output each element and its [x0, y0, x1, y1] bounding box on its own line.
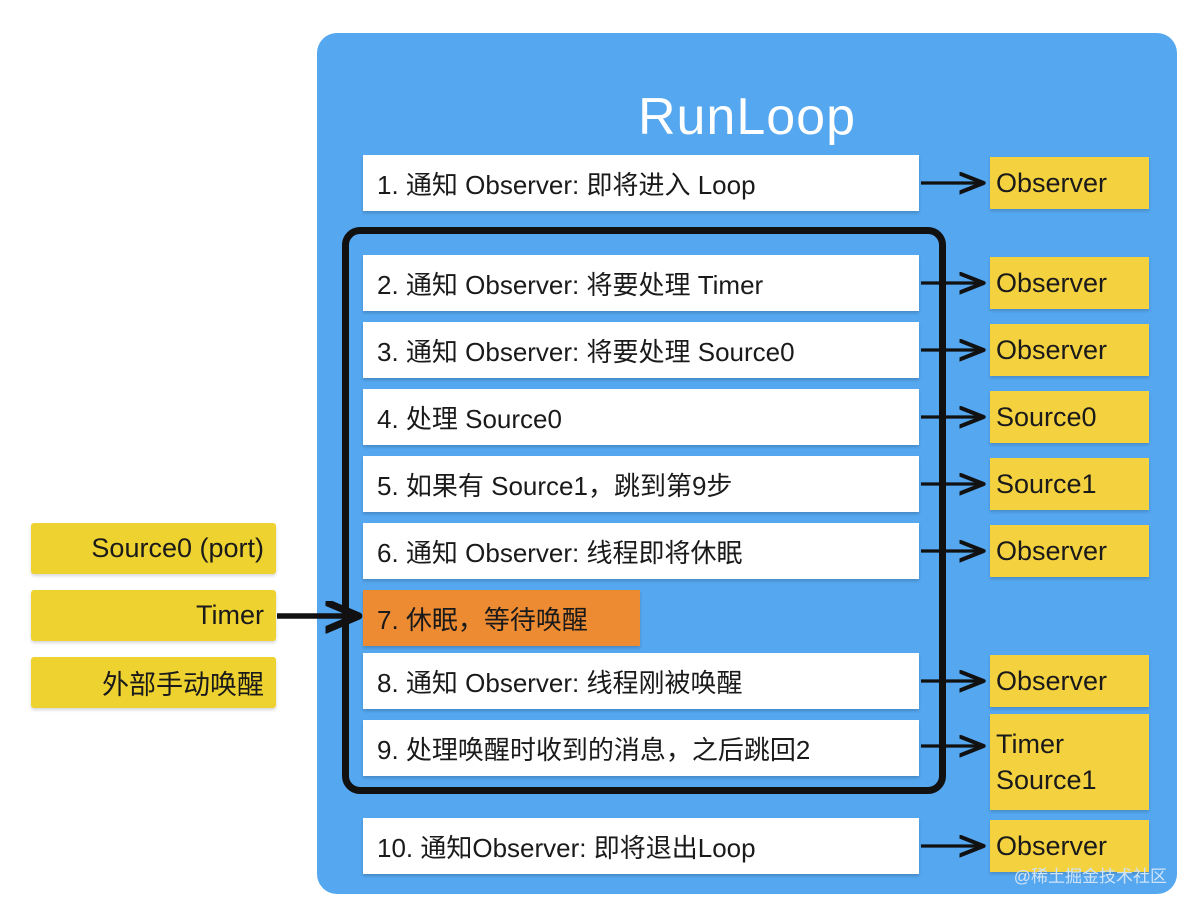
target-tag-observer-1[interactable]: Observer: [990, 157, 1149, 209]
source-tag-manual-wake[interactable]: 外部手动唤醒: [31, 657, 276, 708]
target-label: Source0: [996, 402, 1097, 433]
target-label: Observer: [996, 536, 1107, 567]
target-label: Observer: [996, 666, 1107, 697]
step-row-1[interactable]: 1. 通知 Observer: 即将进入 Loop: [363, 155, 919, 211]
source-tag-source0-port[interactable]: Source0 (port): [31, 523, 276, 574]
source-label: 外部手动唤醒: [102, 663, 264, 702]
target-label: Observer: [996, 335, 1107, 366]
step-label: 9. 处理唤醒时收到的消息，之后跳回2: [377, 730, 810, 767]
step-row-10[interactable]: 10. 通知Observer: 即将退出Loop: [363, 818, 919, 874]
target-label: Observer: [996, 268, 1107, 299]
source-label: Timer: [196, 600, 264, 631]
step-label: 7. 休眠，等待唤醒: [377, 600, 588, 637]
step-row-3[interactable]: 3. 通知 Observer: 将要处理 Source0: [363, 322, 919, 378]
step-row-7-sleep[interactable]: 7. 休眠，等待唤醒: [363, 590, 640, 646]
step-row-9[interactable]: 9. 处理唤醒时收到的消息，之后跳回2: [363, 720, 919, 776]
target-tag-source1[interactable]: Source1: [990, 458, 1149, 510]
step-label: 3. 通知 Observer: 将要处理 Source0: [377, 332, 795, 369]
step-label: 6. 通知 Observer: 线程即将休眠: [377, 533, 743, 570]
source-tag-timer[interactable]: Timer: [31, 590, 276, 641]
runloop-title: RunLoop: [317, 91, 1177, 143]
step-label: 2. 通知 Observer: 将要处理 Timer: [377, 265, 763, 302]
target-tag-source0[interactable]: Source0: [990, 391, 1149, 443]
target-tag-observer-8[interactable]: Observer: [990, 655, 1149, 707]
watermark: @稀土掘金技术社区: [955, 862, 1167, 887]
step-label: 5. 如果有 Source1，跳到第9步: [377, 466, 732, 503]
target-tag-observer-6[interactable]: Observer: [990, 525, 1149, 577]
step-row-4[interactable]: 4. 处理 Source0: [363, 389, 919, 445]
step-label: 10. 通知Observer: 即将退出Loop: [377, 828, 756, 865]
target-label: Observer: [996, 168, 1107, 199]
target-label-line2: Source1: [996, 762, 1097, 798]
step-label: 4. 处理 Source0: [377, 399, 562, 436]
step-label: 1. 通知 Observer: 即将进入 Loop: [377, 165, 756, 202]
diagram-canvas: RunLoop 1. 通知 Observer: 即将进入 Loop 2. 通知 …: [0, 0, 1200, 924]
target-label: Observer: [996, 831, 1107, 862]
target-tag-observer-2[interactable]: Observer: [990, 257, 1149, 309]
target-tag-observer-3[interactable]: Observer: [990, 324, 1149, 376]
target-tag-timer-source1[interactable]: Timer Source1: [990, 714, 1149, 810]
step-row-5[interactable]: 5. 如果有 Source1，跳到第9步: [363, 456, 919, 512]
source-label: Source0 (port): [91, 533, 264, 564]
target-label: Source1: [996, 469, 1097, 500]
step-row-6[interactable]: 6. 通知 Observer: 线程即将休眠: [363, 523, 919, 579]
step-row-2[interactable]: 2. 通知 Observer: 将要处理 Timer: [363, 255, 919, 311]
target-label-line1: Timer: [996, 726, 1064, 762]
step-row-8[interactable]: 8. 通知 Observer: 线程刚被唤醒: [363, 653, 919, 709]
step-label: 8. 通知 Observer: 线程刚被唤醒: [377, 663, 743, 700]
